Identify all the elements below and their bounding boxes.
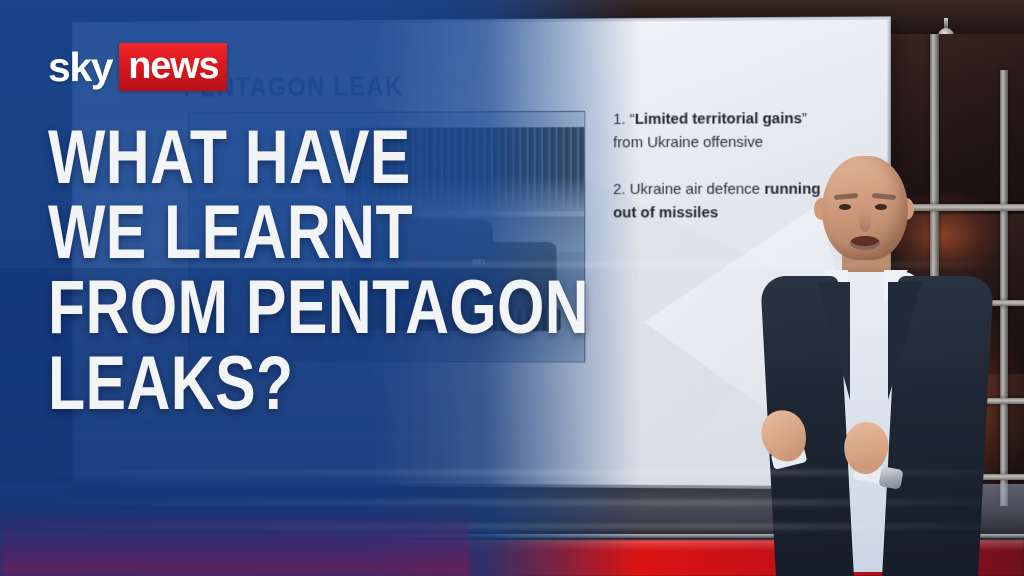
overlay-violet-glow <box>0 502 470 576</box>
presenter-mouth <box>850 236 880 250</box>
bullet-1-bold: Limited territorial gains <box>635 111 802 128</box>
headline-line-1: WHAT HAVE <box>48 120 528 195</box>
presenter-lapel-left <box>818 282 850 400</box>
logo-sky-text: sky <box>48 47 112 88</box>
broadcast-frame: PENTAGON LEAK 001 1. “Limited territoria… <box>0 0 1024 576</box>
wall-strut-vertical <box>1000 70 1008 506</box>
headline-line-3: FROM PENTAGON <box>48 270 528 345</box>
logo-news-badge: news <box>119 43 227 91</box>
presenter-lapel-right <box>888 282 922 400</box>
ceiling-light-stem <box>944 18 948 28</box>
presenter-nose <box>859 212 871 232</box>
presenter-eye-left <box>839 204 851 210</box>
sky-news-logo: sky news <box>48 44 227 90</box>
overlay-sheen <box>0 470 1024 475</box>
headline: WHAT HAVE WE LEARNT FROM PENTAGON LEAKS? <box>48 120 648 421</box>
headline-line-4: LEAKS? <box>48 346 528 421</box>
presenter <box>762 150 994 576</box>
headline-line-2: WE LEARNT <box>48 195 528 270</box>
logo-news-text: news <box>128 47 218 85</box>
presenter-eye-right <box>875 204 887 210</box>
